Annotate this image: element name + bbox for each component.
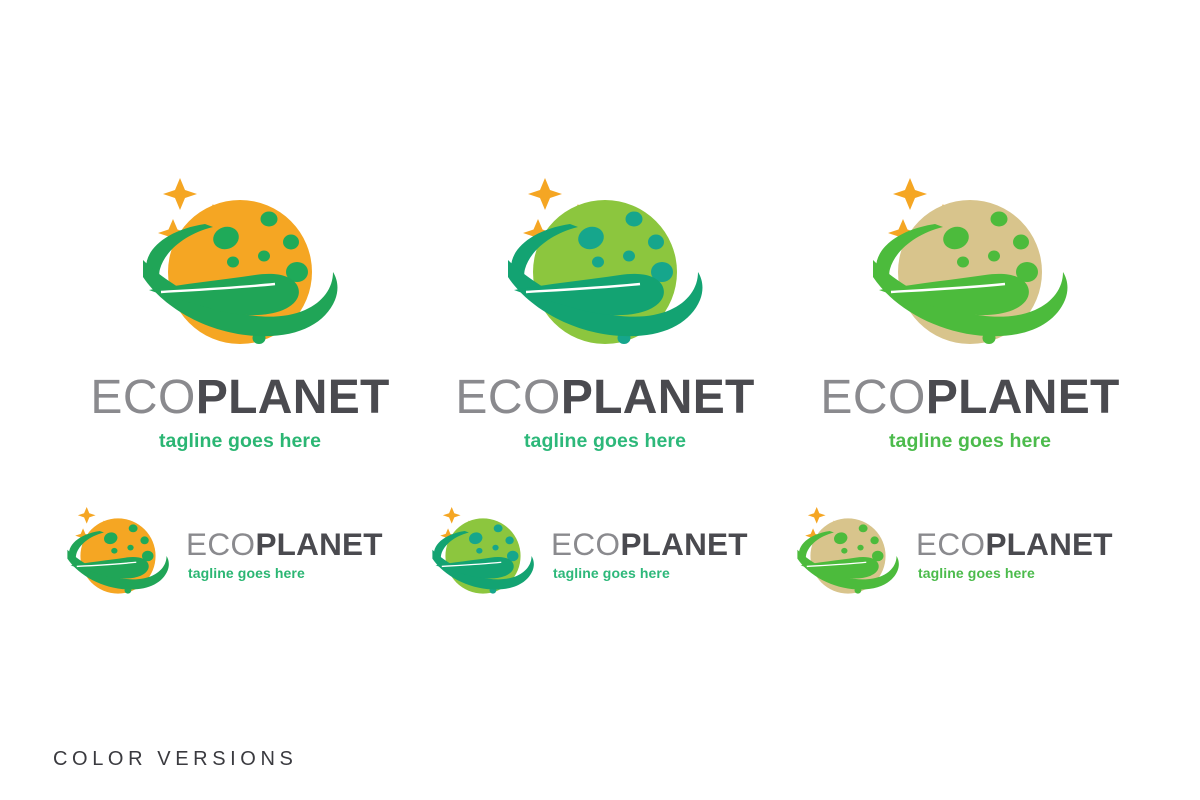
logo-text-block-small: ECOPLANET tagline goes here [551, 526, 748, 581]
logo-mark-large-green [490, 172, 720, 372]
planet-icon [58, 502, 178, 610]
tagline-large: tagline goes here [440, 430, 770, 453]
sparkle-icon [808, 507, 826, 524]
tagline-large: tagline goes here [75, 430, 405, 453]
planet-icon [788, 502, 908, 610]
planet-icon [855, 172, 1085, 372]
sparkle-icon [78, 507, 96, 524]
tagline-small: tagline goes here [551, 565, 748, 581]
logo-lockup-large-green[interactable]: ECOPLANET tagline goes here [440, 172, 770, 462]
wordmark-large: ECOPLANET [440, 370, 770, 425]
logo-text-block-small: ECOPLANET tagline goes here [916, 526, 1113, 581]
logo-lockup-small-orange[interactable]: ECOPLANET tagline goes here [58, 498, 423, 613]
wordmark-small: ECOPLANET [916, 526, 1113, 563]
logo-mark-small-orange [58, 502, 178, 610]
wordmark-eco: ECO [916, 526, 985, 562]
wordmark-eco: ECO [551, 526, 620, 562]
logo-text-block-small: ECOPLANET tagline goes here [186, 526, 383, 581]
logo-mark-small-green [423, 502, 543, 610]
sparkle-icon [443, 507, 461, 524]
tagline-large: tagline goes here [805, 430, 1135, 453]
logo-lockup-small-green[interactable]: ECOPLANET tagline goes here [423, 498, 788, 613]
logo-mark-small-tan [788, 502, 908, 610]
logo-mark-large-tan [855, 172, 1085, 372]
wordmark-large: ECOPLANET [805, 370, 1135, 425]
wordmark-eco: ECO [186, 526, 255, 562]
wordmark-planet: PLANET [561, 371, 755, 424]
logo-mark-large-orange [125, 172, 355, 372]
wordmark-eco: ECO [820, 371, 926, 424]
wordmark-planet: PLANET [985, 526, 1112, 562]
logo-lockup-large-tan[interactable]: ECOPLANET tagline goes here [805, 172, 1135, 462]
sheet-caption: COLOR VERSIONS [53, 748, 297, 771]
sparkle-icon [893, 178, 927, 210]
planet-icon [125, 172, 355, 372]
wordmark-eco: ECO [90, 371, 196, 424]
wordmark-planet: PLANET [620, 526, 747, 562]
tagline-small: tagline goes here [186, 565, 383, 581]
sparkle-icon [163, 178, 197, 210]
wordmark-eco: ECO [455, 371, 561, 424]
logo-lockup-small-tan[interactable]: ECOPLANET tagline goes here [788, 498, 1153, 613]
logo-lockup-large-orange[interactable]: ECOPLANET tagline goes here [75, 172, 405, 462]
planet-icon [423, 502, 543, 610]
wordmark-planet: PLANET [196, 371, 390, 424]
wordmark-large: ECOPLANET [75, 370, 405, 425]
planet-icon [490, 172, 720, 372]
logo-presentation-sheet: ECOPLANET tagline goes here [0, 0, 1200, 800]
wordmark-small: ECOPLANET [551, 526, 748, 563]
sparkle-icon [528, 178, 562, 210]
tagline-small: tagline goes here [916, 565, 1113, 581]
wordmark-planet: PLANET [926, 371, 1120, 424]
wordmark-small: ECOPLANET [186, 526, 383, 563]
wordmark-planet: PLANET [255, 526, 382, 562]
